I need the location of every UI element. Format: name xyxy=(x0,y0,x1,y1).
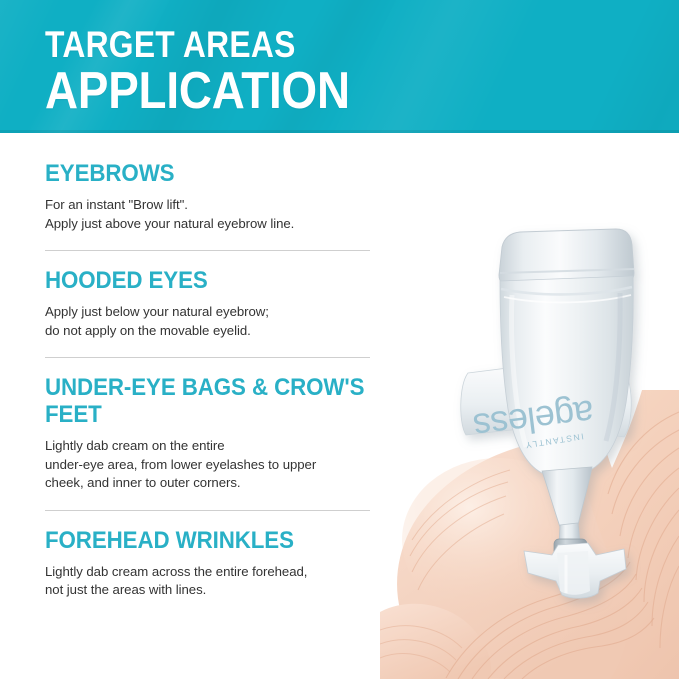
infographic-page: TARGET AREAS APPLICATION xyxy=(0,0,679,679)
section-hooded-eyes: HOODED EYES Apply just below your natura… xyxy=(45,267,385,340)
section-title-forehead-wrinkles: FOREHEAD WRINKLES xyxy=(45,527,361,554)
body-line: Apply just below your natural eyebrow; xyxy=(45,303,385,322)
section-body-hooded-eyes: Apply just below your natural eyebrow; d… xyxy=(45,303,385,340)
section-divider xyxy=(45,357,370,358)
section-forehead-wrinkles: FOREHEAD WRINKLES Lightly dab cream acro… xyxy=(45,527,385,600)
body-line: cheek, and inner to outer corners. xyxy=(45,474,385,493)
body-line: Lightly dab cream on the entire xyxy=(45,437,385,456)
body-line: Apply just above your natural eyebrow li… xyxy=(45,215,385,234)
body-line: do not apply on the movable eyelid. xyxy=(45,322,385,341)
body-line: not just the areas with lines. xyxy=(45,581,385,600)
banner-bottom-edge xyxy=(0,130,679,133)
section-divider xyxy=(45,250,370,251)
section-divider xyxy=(45,510,370,511)
section-eyebrows: EYEBROWS For an instant "Brow lift". App… xyxy=(45,160,385,233)
section-title-eyebrows: EYEBROWS xyxy=(45,160,361,187)
body-line: Lightly dab cream across the entire fore… xyxy=(45,563,385,582)
section-title-hooded-eyes: HOODED EYES xyxy=(45,267,361,294)
banner-title-primary: TARGET AREAS xyxy=(45,25,343,64)
section-body-forehead-wrinkles: Lightly dab cream across the entire fore… xyxy=(45,563,385,600)
section-under-eye-bags-crows-feet: UNDER-EYE BAGS & CROW'S FEET Lightly dab… xyxy=(45,374,385,493)
section-body-under-eye-bags-crows-feet: Lightly dab cream on the entire under-ey… xyxy=(45,437,385,493)
banner-title-group: TARGET AREAS APPLICATION xyxy=(45,25,391,118)
banner-title-secondary: APPLICATION xyxy=(45,64,350,118)
header-banner: TARGET AREAS APPLICATION xyxy=(0,0,679,133)
body-line: under-eye area, from lower eyelashes to … xyxy=(45,456,385,475)
section-body-eyebrows: For an instant "Brow lift". Apply just a… xyxy=(45,196,385,233)
section-title-under-eye-bags-crows-feet: UNDER-EYE BAGS & CROW'S FEET xyxy=(45,374,380,428)
body-line: For an instant "Brow lift". xyxy=(45,196,385,215)
product-tube-illustration: INSTANTLY ageless xyxy=(420,225,679,600)
target-areas-list: EYEBROWS For an instant "Brow lift". App… xyxy=(45,160,385,600)
